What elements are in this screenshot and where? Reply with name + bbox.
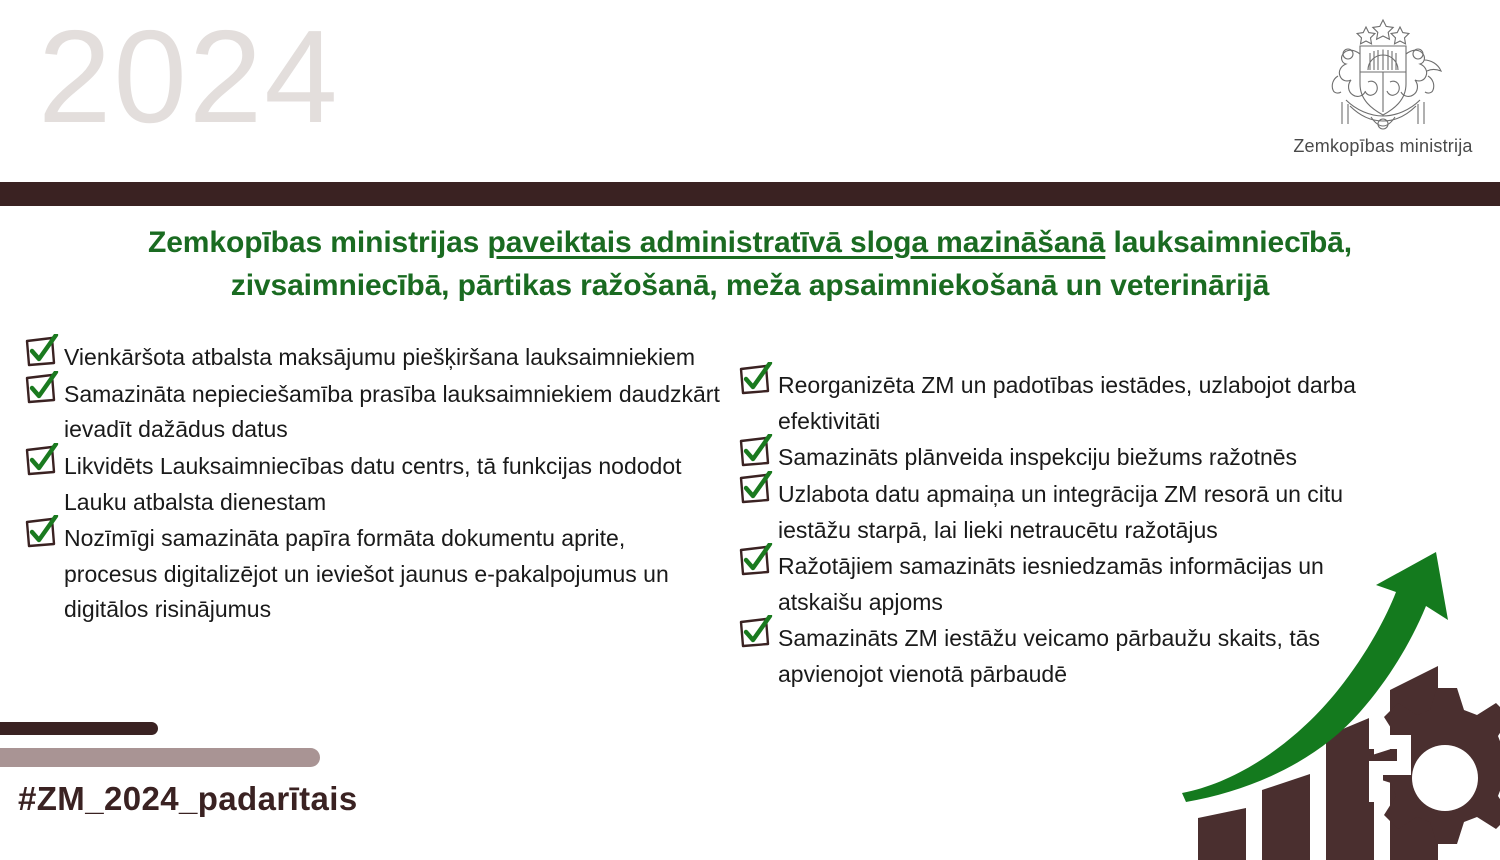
list-item: Samazināta nepieciešamība prasība lauksa… — [24, 377, 724, 448]
growth-arrow-bars-gear-icon — [1180, 540, 1500, 860]
title-segment-underlined: paveiktais administratīvā sloga mazināša… — [487, 226, 1105, 259]
list-item-label: Samazināts plānveida inspekciju biežums … — [778, 440, 1378, 476]
list-item-label: Nozīmīgi samazināta papīra formāta dokum… — [64, 521, 724, 628]
checkbox-checked-icon — [24, 443, 60, 477]
checkbox-checked-icon — [24, 515, 60, 549]
list-item-label: Samazināta nepieciešamība prasība lauksa… — [64, 377, 724, 448]
title-line-2: zivsaimniecībā, pārtikas ražošanā, meža … — [231, 269, 1269, 302]
footer-accent-bar-light — [0, 748, 320, 767]
list-item: Likvidēts Lauksaimniecības datu centrs, … — [24, 449, 724, 520]
slide-root: 2024 — [0, 0, 1500, 860]
list-item-label: Reorganizēta ZM un padotības iestādes, u… — [778, 368, 1378, 439]
title-segment-after: lauksaimniecībā, — [1105, 226, 1352, 259]
checkbox-checked-icon — [738, 471, 774, 505]
checkbox-checked-icon — [738, 434, 774, 468]
footer-accent-bar-dark — [0, 722, 158, 735]
list-item: Vienkāršota atbalsta maksājumu piešķirša… — [24, 340, 724, 376]
list-item: Reorganizēta ZM un padotības iestādes, u… — [738, 368, 1378, 439]
checkbox-checked-icon — [24, 371, 60, 405]
checkbox-checked-icon — [738, 362, 774, 396]
checkbox-checked-icon — [24, 334, 60, 368]
latvian-coat-of-arms-icon — [1308, 14, 1458, 134]
campaign-hashtag: #ZM_2024_padarītais — [18, 780, 358, 818]
header-divider-bar — [0, 182, 1500, 206]
checkbox-checked-icon — [738, 615, 774, 649]
logo-caption: Zemkopības ministrija — [1278, 136, 1488, 157]
list-item-label: Likvidēts Lauksaimniecības datu centrs, … — [64, 449, 724, 520]
list-item: Uzlabota datu apmaiņa un integrācija ZM … — [738, 477, 1378, 548]
title-segment-before: Zemkopības ministrijas — [148, 226, 487, 259]
list-item: Nozīmīgi samazināta papīra formāta dokum… — [24, 521, 724, 628]
ministry-logo: Zemkopības ministrija — [1278, 14, 1488, 157]
year-watermark: 2024 — [38, 8, 340, 147]
list-item: Samazināts plānveida inspekciju biežums … — [738, 440, 1378, 476]
list-item-label: Uzlabota datu apmaiņa un integrācija ZM … — [778, 477, 1378, 548]
page-title: Zemkopības ministrijas paveiktais admini… — [90, 222, 1410, 307]
list-item-label: Vienkāršota atbalsta maksājumu piešķirša… — [64, 340, 724, 376]
checkbox-checked-icon — [738, 543, 774, 577]
achievements-column-left: Vienkāršota atbalsta maksājumu piešķirša… — [24, 340, 724, 629]
